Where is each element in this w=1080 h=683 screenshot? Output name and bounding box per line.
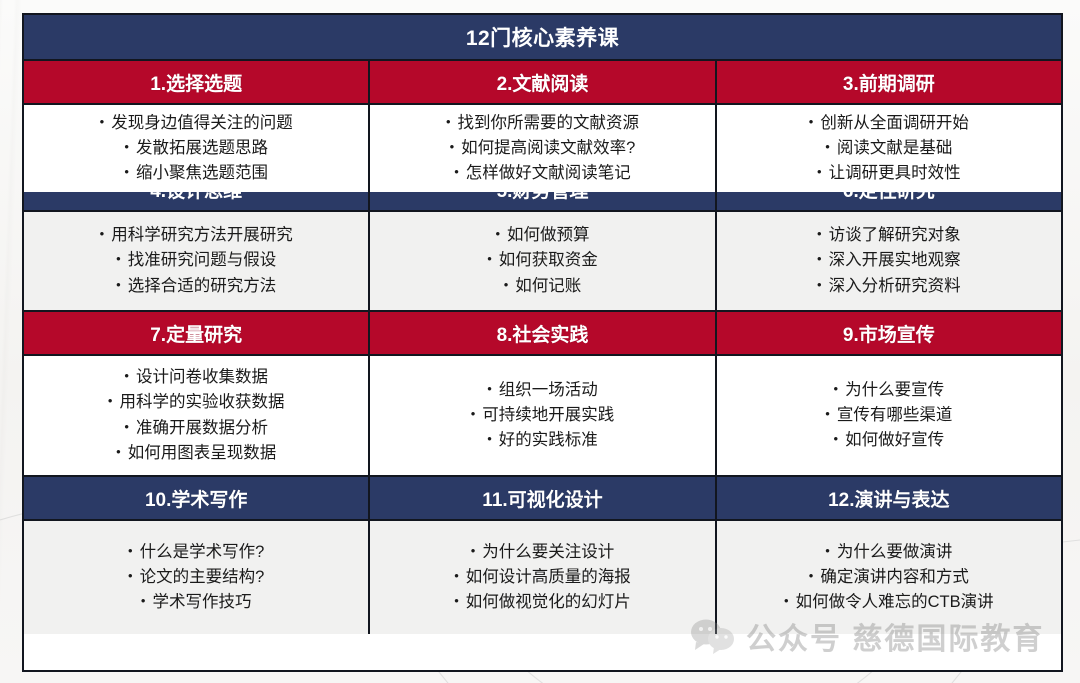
course-body-6: •访谈了解研究对象 •深入开展实地观察 •深入分析研究资料 bbox=[717, 212, 1061, 310]
bullet-icon: • bbox=[817, 227, 822, 240]
list-item: •怎样做好文献阅读笔记 bbox=[454, 161, 631, 186]
list-item-label: 论文的主要结构? bbox=[140, 565, 265, 590]
bullet-icon: • bbox=[141, 594, 146, 607]
list-item: •学术写作技巧 bbox=[141, 590, 252, 615]
list-item-label: 发散拓展选题思路 bbox=[136, 136, 268, 161]
list-item: •如何获取资金 bbox=[487, 248, 598, 273]
list-item-label: 如何设计高质量的海报 bbox=[466, 565, 631, 590]
bullet-icon: • bbox=[108, 394, 113, 407]
list-item: •创新从全面调研开始 bbox=[809, 111, 969, 136]
list-item-label: 好的实践标准 bbox=[499, 428, 598, 453]
list-item-label: 宣传有哪些渠道 bbox=[837, 403, 953, 428]
bullet-icon: • bbox=[450, 140, 455, 153]
list-item: •用科学的实验收获数据 bbox=[108, 390, 285, 415]
list-item: •论文的主要结构? bbox=[128, 565, 264, 590]
list-item-label: 缩小聚焦选题范围 bbox=[136, 161, 268, 186]
course-header-7: 7.定量研究 bbox=[24, 312, 368, 356]
list-item: •缩小聚焦选题范围 bbox=[124, 161, 268, 186]
list-item: •阅读文献是基础 bbox=[825, 136, 952, 161]
list-item-label: 如何做好宣传 bbox=[845, 428, 944, 453]
list-item-label: 怎样做好文献阅读笔记 bbox=[466, 161, 631, 186]
list-item-label: 确定演讲内容和方式 bbox=[820, 565, 969, 590]
list-item: •选择合适的研究方法 bbox=[116, 274, 276, 299]
list-item-label: 深入开展实地观察 bbox=[829, 248, 961, 273]
list-item-label: 如何用图表呈现数据 bbox=[128, 441, 277, 466]
bullet-icon: • bbox=[124, 140, 129, 153]
bullet-icon: • bbox=[834, 432, 839, 445]
bullet-icon: • bbox=[487, 432, 492, 445]
list-item-label: 如何做令人难忘的CTB演讲 bbox=[796, 590, 994, 615]
bullet-icon: • bbox=[128, 569, 133, 582]
list-item-label: 创新从全面调研开始 bbox=[820, 111, 969, 136]
bullet-icon: • bbox=[454, 594, 459, 607]
list-item: •可持续地开展实践 bbox=[471, 403, 615, 428]
list-item: •宣传有哪些渠道 bbox=[825, 403, 952, 428]
list-item: •如何做令人难忘的CTB演讲 bbox=[784, 590, 994, 615]
list-item: •找到你所需要的文献资源 bbox=[446, 111, 639, 136]
course-header-11: 11.可视化设计 bbox=[370, 477, 714, 521]
list-item: •找准研究问题与假设 bbox=[116, 248, 276, 273]
bullet-icon: • bbox=[825, 544, 830, 557]
list-item: •深入开展实地观察 bbox=[817, 248, 961, 273]
list-item: •好的实践标准 bbox=[487, 428, 598, 453]
course-header-8: 8.社会实践 bbox=[370, 312, 714, 356]
list-item: •如何设计高质量的海报 bbox=[454, 565, 631, 590]
list-item: •确定演讲内容和方式 bbox=[809, 565, 969, 590]
course-card-11[interactable]: 11.可视化设计 •为什么要关注设计 •如何设计高质量的海报 •如何做视觉化的幻… bbox=[370, 477, 716, 634]
course-header-3: 3.前期调研 bbox=[717, 61, 1061, 105]
list-item: •用科学研究方法开展研究 bbox=[100, 223, 293, 248]
bullet-icon: • bbox=[100, 227, 105, 240]
bullet-icon: • bbox=[116, 252, 121, 265]
list-item-label: 深入分析研究资料 bbox=[829, 274, 961, 299]
list-item: •让调研更具时效性 bbox=[817, 161, 961, 186]
course-card-7[interactable]: 7.定量研究 •设计问卷收集数据 •用科学的实验收获数据 •准确开展数据分析 •… bbox=[24, 312, 370, 475]
course-matrix-table: 12门核心素养课 1.选择选题 •发现身边值得关注的问题 •发散拓展选题思路 •… bbox=[22, 13, 1063, 672]
list-item-label: 选择合适的研究方法 bbox=[128, 274, 277, 299]
course-card-2[interactable]: 2.文献阅读 •找到你所需要的文献资源 •如何提高阅读文献效率? •怎样做好文献… bbox=[370, 61, 716, 166]
list-item-label: 用科学研究方法开展研究 bbox=[111, 223, 293, 248]
bullet-icon: • bbox=[487, 382, 492, 395]
bullet-icon: • bbox=[834, 382, 839, 395]
list-item-label: 可持续地开展实践 bbox=[482, 403, 614, 428]
list-item: •如何做预算 bbox=[495, 223, 589, 248]
course-body-11: •为什么要关注设计 •如何设计高质量的海报 •如何做视觉化的幻灯片 bbox=[370, 521, 714, 634]
list-item: •如何记账 bbox=[504, 274, 582, 299]
bullet-icon: • bbox=[116, 278, 121, 291]
list-item: •深入分析研究资料 bbox=[817, 274, 961, 299]
bullet-icon: • bbox=[817, 278, 822, 291]
list-item-label: 发现身边值得关注的问题 bbox=[111, 111, 293, 136]
bullet-icon: • bbox=[825, 140, 830, 153]
course-card-3[interactable]: 3.前期调研 •创新从全面调研开始 •阅读文献是基础 •让调研更具时效性 bbox=[717, 61, 1061, 166]
list-item-label: 准确开展数据分析 bbox=[136, 416, 268, 441]
course-header-1: 1.选择选题 bbox=[24, 61, 368, 105]
bullet-icon: • bbox=[504, 278, 509, 291]
list-item-label: 找准研究问题与假设 bbox=[128, 248, 277, 273]
list-item: •发散拓展选题思路 bbox=[124, 136, 268, 161]
bullet-icon: • bbox=[454, 569, 459, 582]
list-item-label: 如何做视觉化的幻灯片 bbox=[466, 590, 631, 615]
bullet-icon: • bbox=[454, 165, 459, 178]
bullet-icon: • bbox=[116, 445, 121, 458]
list-item: •如何做视觉化的幻灯片 bbox=[454, 590, 631, 615]
bullet-icon: • bbox=[784, 594, 789, 607]
bullet-icon: • bbox=[487, 252, 492, 265]
course-body-12: •为什么要做演讲 •确定演讲内容和方式 •如何做令人难忘的CTB演讲 bbox=[717, 521, 1061, 634]
bullet-icon: • bbox=[471, 407, 476, 420]
page-title: 12门核心素养课 bbox=[24, 15, 1061, 61]
list-item-label: 访谈了解研究对象 bbox=[829, 223, 961, 248]
list-item: •什么是学术写作? bbox=[128, 540, 264, 565]
table-row: 7.定量研究 •设计问卷收集数据 •用科学的实验收获数据 •准确开展数据分析 •… bbox=[24, 312, 1061, 477]
course-body-10: •什么是学术写作? •论文的主要结构? •学术写作技巧 bbox=[24, 521, 368, 634]
list-item: •为什么要宣传 bbox=[834, 378, 945, 403]
course-body-4: •用科学研究方法开展研究 •找准研究问题与假设 •选择合适的研究方法 bbox=[24, 212, 368, 310]
table-row: 10.学术写作 •什么是学术写作? •论文的主要结构? •学术写作技巧 11.可… bbox=[24, 477, 1061, 634]
bullet-icon: • bbox=[124, 369, 129, 382]
course-card-12[interactable]: 12.演讲与表达 •为什么要做演讲 •确定演讲内容和方式 •如何做令人难忘的CT… bbox=[717, 477, 1061, 634]
bullet-icon: • bbox=[471, 544, 476, 557]
table-row: 1.选择选题 •发现身边值得关注的问题 •发散拓展选题思路 •缩小聚焦选题范围 … bbox=[24, 61, 1061, 168]
bullet-icon: • bbox=[124, 165, 129, 178]
list-item: •为什么要做演讲 bbox=[825, 540, 952, 565]
course-body-5: •如何做预算 •如何获取资金 •如何记账 bbox=[370, 212, 714, 310]
list-item-label: 设计问卷收集数据 bbox=[136, 365, 268, 390]
bullet-icon: • bbox=[124, 420, 129, 433]
course-body-3: •创新从全面调研开始 •阅读文献是基础 •让调研更具时效性 bbox=[717, 105, 1061, 192]
list-item: •如何提高阅读文献效率? bbox=[450, 136, 636, 161]
list-item-label: 为什么要做演讲 bbox=[837, 540, 953, 565]
list-item-label: 如何记账 bbox=[515, 274, 581, 299]
list-item-label: 组织一场活动 bbox=[499, 378, 598, 403]
course-card-10[interactable]: 10.学术写作 •什么是学术写作? •论文的主要结构? •学术写作技巧 bbox=[24, 477, 370, 634]
course-header-2: 2.文献阅读 bbox=[370, 61, 714, 105]
bullet-icon: • bbox=[128, 544, 133, 557]
course-body-7: •设计问卷收集数据 •用科学的实验收获数据 •准确开展数据分析 •如何用图表呈现… bbox=[24, 356, 368, 475]
list-item-label: 什么是学术写作? bbox=[140, 540, 265, 565]
bullet-icon: • bbox=[817, 165, 822, 178]
list-item-label: 为什么要宣传 bbox=[845, 378, 944, 403]
course-card-1[interactable]: 1.选择选题 •发现身边值得关注的问题 •发散拓展选题思路 •缩小聚焦选题范围 bbox=[24, 61, 370, 166]
list-item: •如何用图表呈现数据 bbox=[116, 441, 276, 466]
list-item: •设计问卷收集数据 bbox=[124, 365, 268, 390]
list-item-label: 学术写作技巧 bbox=[152, 590, 251, 615]
course-body-1: •发现身边值得关注的问题 •发散拓展选题思路 •缩小聚焦选题范围 bbox=[24, 105, 368, 192]
course-body-2: •找到你所需要的文献资源 •如何提高阅读文献效率? •怎样做好文献阅读笔记 bbox=[370, 105, 714, 192]
course-header-10: 10.学术写作 bbox=[24, 477, 368, 521]
course-body-9: •为什么要宣传 •宣传有哪些渠道 •如何做好宣传 bbox=[717, 356, 1061, 475]
course-header-12: 12.演讲与表达 bbox=[717, 477, 1061, 521]
bullet-icon: • bbox=[825, 407, 830, 420]
list-item: •发现身边值得关注的问题 bbox=[100, 111, 293, 136]
course-body-8: •组织一场活动 •可持续地开展实践 •好的实践标准 bbox=[370, 356, 714, 475]
bullet-icon: • bbox=[100, 115, 105, 128]
bullet-icon: • bbox=[495, 227, 500, 240]
bullet-icon: • bbox=[809, 569, 814, 582]
list-item: •准确开展数据分析 bbox=[124, 416, 268, 441]
list-item-label: 如何获取资金 bbox=[499, 248, 598, 273]
course-header-9: 9.市场宣传 bbox=[717, 312, 1061, 356]
list-item-label: 阅读文献是基础 bbox=[837, 136, 953, 161]
list-item: •访谈了解研究对象 bbox=[817, 223, 961, 248]
list-item-label: 让调研更具时效性 bbox=[829, 161, 961, 186]
list-item-label: 如何做预算 bbox=[507, 223, 590, 248]
list-item-label: 如何提高阅读文献效率? bbox=[461, 136, 635, 161]
course-card-9[interactable]: 9.市场宣传 •为什么要宣传 •宣传有哪些渠道 •如何做好宣传 bbox=[717, 312, 1061, 475]
list-item-label: 用科学的实验收获数据 bbox=[119, 390, 284, 415]
list-item: •为什么要关注设计 bbox=[471, 540, 615, 565]
bullet-icon: • bbox=[817, 252, 822, 265]
bullet-icon: • bbox=[809, 115, 814, 128]
bullet-icon: • bbox=[446, 115, 451, 128]
course-card-8[interactable]: 8.社会实践 •组织一场活动 •可持续地开展实践 •好的实践标准 bbox=[370, 312, 716, 475]
list-item: •组织一场活动 bbox=[487, 378, 598, 403]
list-item-label: 找到你所需要的文献资源 bbox=[458, 111, 640, 136]
list-item-label: 为什么要关注设计 bbox=[482, 540, 614, 565]
list-item: •如何做好宣传 bbox=[834, 428, 945, 453]
